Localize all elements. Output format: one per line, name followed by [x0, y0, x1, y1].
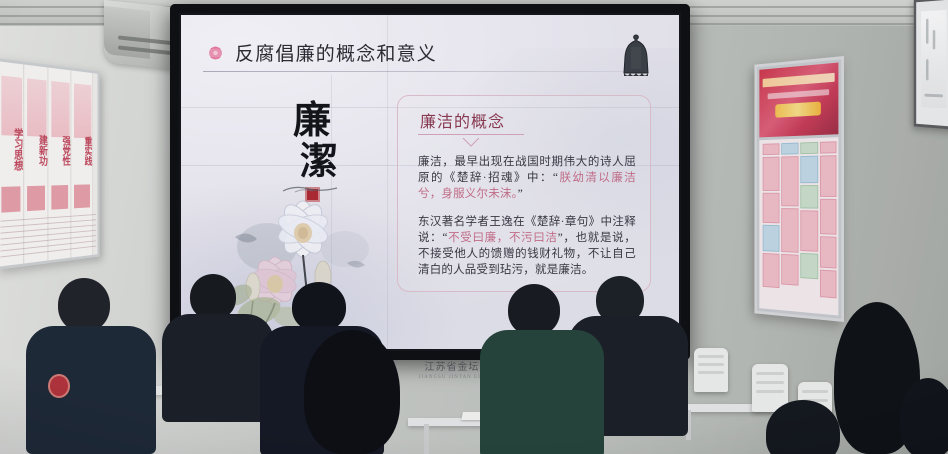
photo-scene: 学习思想 建新功 强党性 重实践 [0, 0, 948, 454]
framed-poster [754, 56, 844, 322]
board-column-2: 建新功 [26, 121, 47, 179]
board-column-1: 学习思想 [0, 119, 22, 179]
board-column-4: 重实践 [73, 123, 92, 177]
board-column-3: 强党性 [51, 122, 71, 178]
chair-right-1 [694, 348, 728, 392]
uniform-sleeve-badge [48, 374, 70, 398]
bulletin-board: 学习思想 建新功 强党性 重实践 [0, 58, 100, 270]
framed-certificate [914, 0, 948, 130]
